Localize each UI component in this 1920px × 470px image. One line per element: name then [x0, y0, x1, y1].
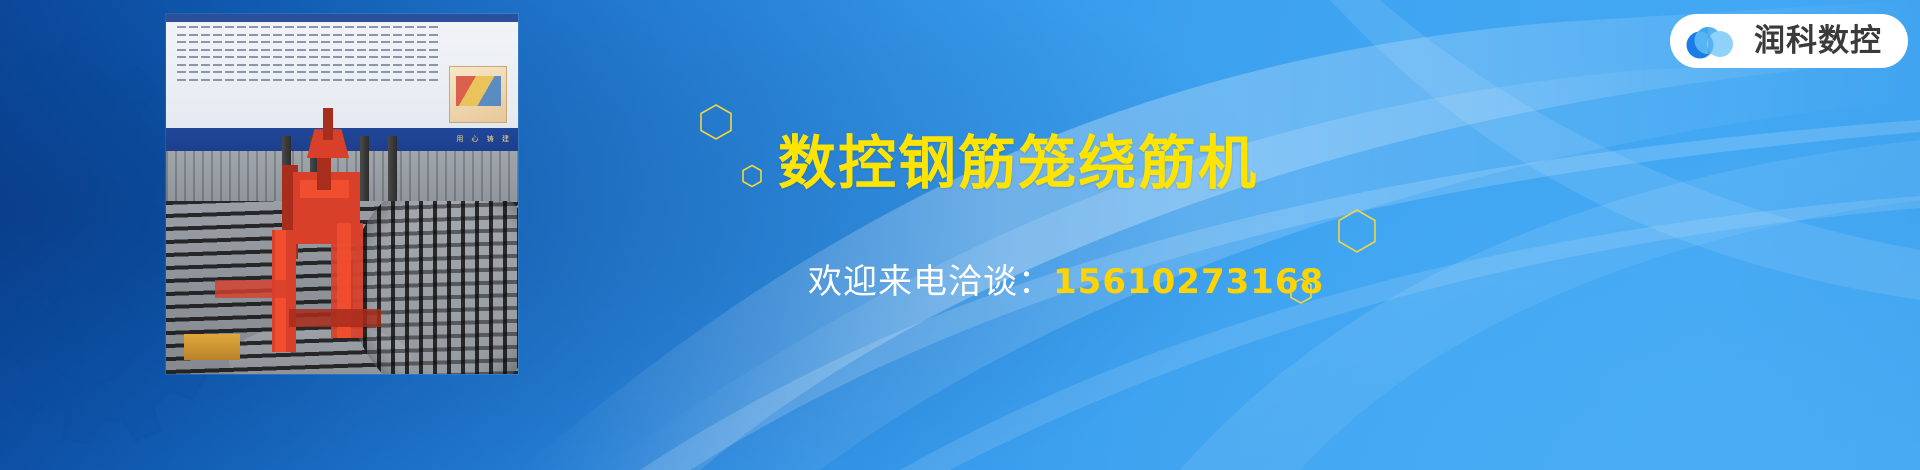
promo-banner: 用 心 铸 建: [0, 0, 1920, 470]
cloud-petal-logo-icon: [1684, 22, 1740, 60]
brand-name: 润科数控: [1754, 26, 1882, 57]
headline: 数控钢筋笼绕筋机: [778, 134, 1258, 192]
contact-line: 欢迎来电洽谈：15610273168: [808, 265, 1324, 299]
photo-winding-machine: [166, 14, 518, 374]
hexagon-decor-icon: [698, 103, 734, 141]
product-photo: 用 心 铸 建: [166, 14, 518, 374]
brand-logo[interactable]: 润科数控: [1670, 14, 1908, 68]
contact-label: 欢迎来电洽谈：: [808, 262, 1053, 302]
hexagon-decor-large-icon: [1335, 208, 1379, 254]
contact-phone[interactable]: 15610273168: [1053, 262, 1324, 302]
photo-yellow-machine-part: [184, 334, 240, 359]
hexagon-decor-small-icon: [741, 164, 763, 188]
